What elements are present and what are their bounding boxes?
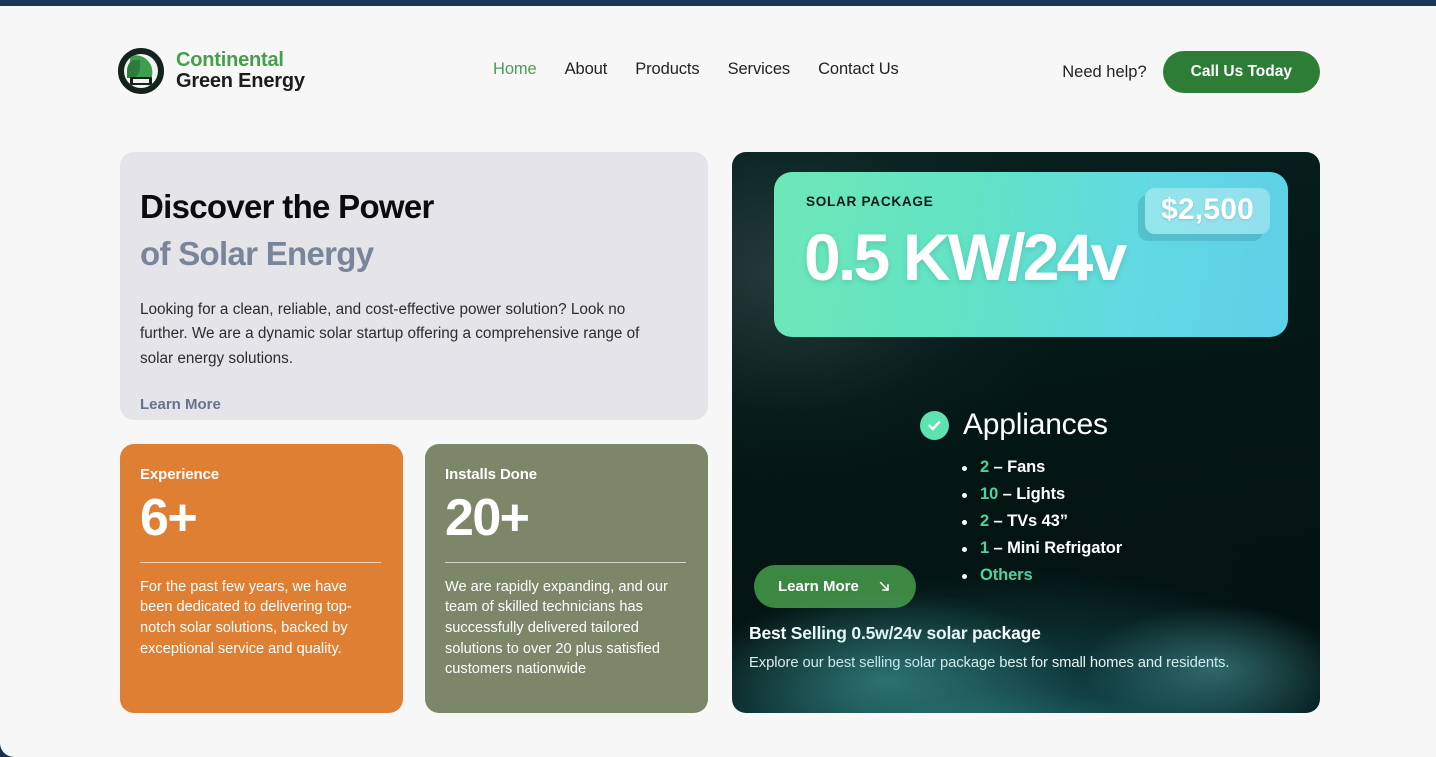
list-item: 2 – TVs 43”	[980, 512, 1122, 531]
appliance-name: TVs 43”	[1007, 512, 1068, 530]
stat-label: Installs Done	[445, 466, 686, 483]
nav-item-about[interactable]: About	[565, 60, 608, 79]
appliance-qty: 2	[980, 512, 989, 530]
price-badge: $2,500	[1145, 188, 1270, 234]
brand-text: Continental Green Energy	[176, 50, 305, 92]
hero-title-line2: of Solar Energy	[140, 237, 676, 271]
stat-description: For the past few years, we have been ded…	[140, 577, 381, 660]
promo-footer-title: Best Selling 0.5w/24v solar package	[749, 623, 1309, 644]
hero-learn-more-link[interactable]: Learn More	[140, 396, 221, 413]
appliances-title: Appliances	[963, 408, 1108, 442]
header-actions: Need help? Call Us Today	[1062, 51, 1320, 93]
hero-paragraph: Looking for a clean, reliable, and cost-…	[140, 298, 676, 372]
appliances-heading: Appliances	[920, 408, 1122, 442]
stat-value: 20+	[445, 491, 686, 546]
stat-value: 6+	[140, 491, 381, 546]
package-capacity-headline: 0.5 KW/24v	[804, 224, 1125, 290]
brand-name-line2: Green Energy	[176, 71, 305, 92]
promo-footer: Best Selling 0.5w/24v solar package Expl…	[749, 623, 1309, 671]
check-circle-icon	[920, 411, 949, 440]
nav-item-products[interactable]: Products	[635, 60, 699, 79]
call-us-today-button[interactable]: Call Us Today	[1163, 51, 1320, 93]
page-viewport: Continental Green Energy Home About Prod…	[0, 6, 1436, 757]
page-root: Continental Green Energy Home About Prod…	[0, 0, 1436, 757]
stat-divider	[140, 562, 381, 563]
need-help-label: Need help?	[1062, 63, 1146, 82]
stats-row: Experience 6+ For the past few years, we…	[120, 444, 708, 713]
hero-card: Discover the Power of Solar Energy Looki…	[120, 152, 708, 420]
package-headline-card: SOLAR PACKAGE $2,500 0.5 KW/24v	[774, 172, 1288, 337]
stat-card-installs-done: Installs Done 20+ We are rapidly expandi…	[425, 444, 708, 713]
appliance-qty: 10	[980, 485, 998, 503]
main-content: Discover the Power of Solar Energy Looki…	[120, 152, 1320, 713]
appliances-list: 2 – Fans 10 – Lights 2 – TVs 43” 1 – Min…	[920, 458, 1122, 585]
list-item: 2 – Fans	[980, 458, 1122, 477]
globe-leaf-badge-icon	[118, 48, 164, 94]
appliance-name: Lights	[1016, 485, 1065, 503]
stat-label: Experience	[140, 466, 381, 483]
appliance-qty: 2	[980, 458, 989, 476]
appliance-qty: 1	[980, 539, 989, 557]
stat-divider	[445, 562, 686, 563]
brand-logo[interactable]: Continental Green Energy	[118, 48, 305, 94]
appliance-name: Others	[980, 566, 1033, 584]
brand-name-line1: Continental	[176, 50, 305, 71]
stat-description: We are rapidly expanding, and our team o…	[445, 577, 686, 681]
appliance-name: Fans	[1007, 458, 1045, 476]
nav-item-home[interactable]: Home	[493, 60, 537, 79]
promo-learn-more-label: Learn More	[778, 578, 859, 595]
site-header: Continental Green Energy Home About Prod…	[0, 6, 1436, 118]
promo-learn-more-button[interactable]: Learn More	[754, 565, 916, 608]
list-item: 10 – Lights	[980, 485, 1122, 504]
solar-package-promo-panel: SOLAR PACKAGE $2,500 0.5 KW/24v Applianc…	[732, 152, 1320, 713]
list-item: 1 – Mini Refrigator	[980, 539, 1122, 558]
hero-title-line1: Discover the Power	[140, 190, 676, 224]
nav-item-services[interactable]: Services	[728, 60, 790, 79]
list-item: Others	[980, 566, 1122, 585]
appliance-name: Mini Refrigator	[1007, 539, 1122, 557]
promo-footer-subtitle: Explore our best selling solar package b…	[749, 655, 1309, 671]
stat-card-experience: Experience 6+ For the past few years, we…	[120, 444, 403, 713]
nav-item-contact-us[interactable]: Contact Us	[818, 60, 899, 79]
left-column: Discover the Power of Solar Energy Looki…	[120, 152, 708, 713]
appliances-block: Appliances 2 – Fans 10 – Lights 2 – TVs …	[920, 408, 1122, 593]
arrow-down-right-icon	[877, 579, 892, 594]
primary-navigation: Home About Products Services Contact Us	[493, 60, 899, 79]
